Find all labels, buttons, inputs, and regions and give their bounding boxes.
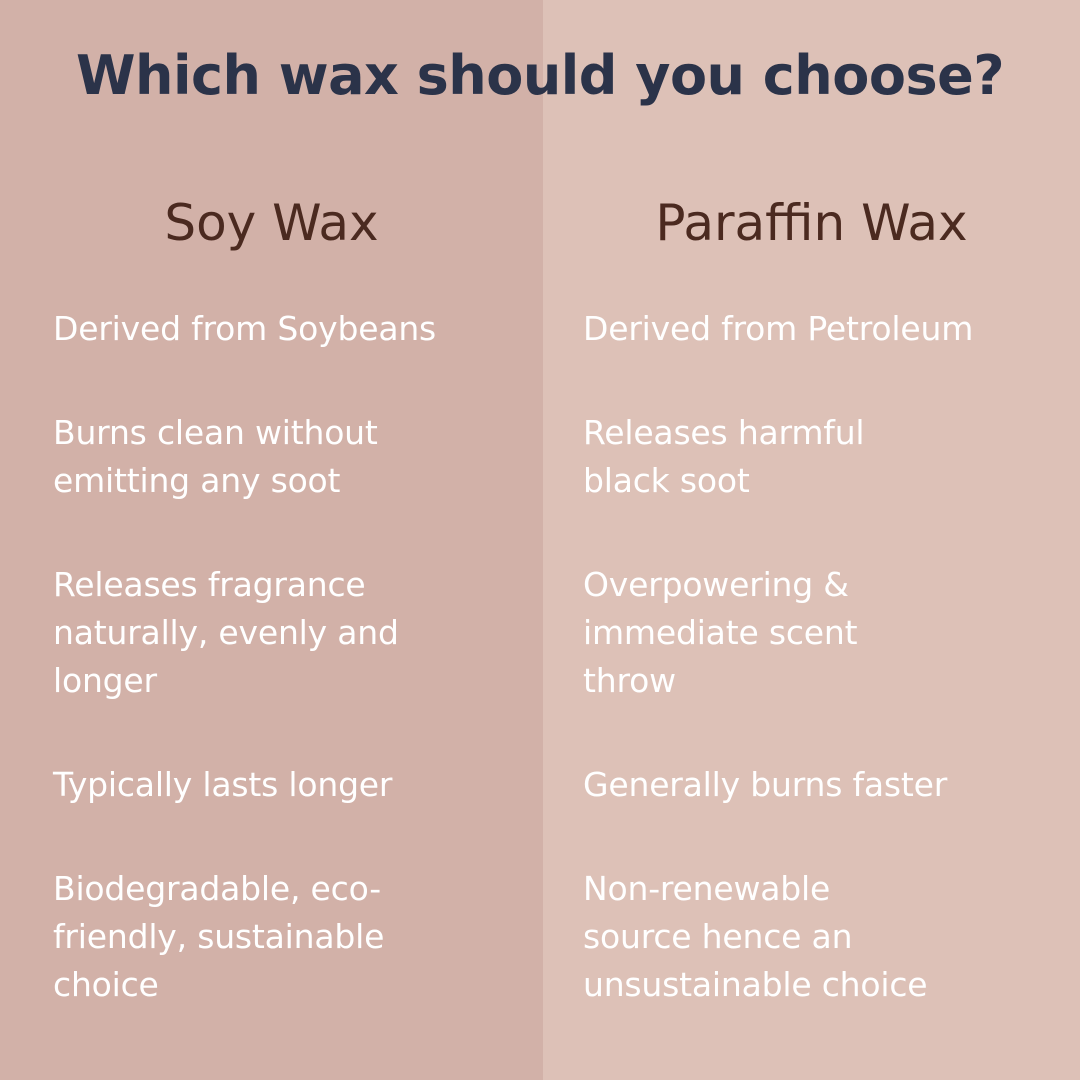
list-item: Burns clean without emitting any soot bbox=[53, 409, 523, 505]
column-items-soy-wax: Derived from Soybeans Burns clean withou… bbox=[53, 305, 523, 1009]
comparison-columns: Soy Wax Derived from Soybeans Burns clea… bbox=[0, 0, 1080, 1080]
list-item: Overpowering & immediate scent throw bbox=[583, 561, 1063, 705]
list-item: Derived from Petroleum bbox=[583, 305, 1063, 353]
column-soy-wax: Soy Wax Derived from Soybeans Burns clea… bbox=[0, 0, 543, 1080]
column-header-soy-wax: Soy Wax bbox=[0, 196, 543, 251]
column-items-paraffin-wax: Derived from Petroleum Releases harmful … bbox=[583, 305, 1063, 1009]
list-item: Typically lasts longer bbox=[53, 761, 523, 809]
column-paraffin-wax: Paraffin Wax Derived from Petroleum Rele… bbox=[543, 0, 1080, 1080]
list-item: Generally burns faster bbox=[583, 761, 1063, 809]
list-item: Non-renewable source hence an unsustaina… bbox=[583, 865, 1063, 1009]
list-item: Releases fragrance naturally, evenly and… bbox=[53, 561, 523, 705]
list-item: Biodegradable, eco- friendly, sustainabl… bbox=[53, 865, 523, 1009]
list-item: Releases harmful black soot bbox=[583, 409, 1063, 505]
wax-comparison-infographic: Which wax should you choose? Soy Wax Der… bbox=[0, 0, 1080, 1080]
column-header-paraffin-wax: Paraffin Wax bbox=[543, 196, 1080, 251]
list-item: Derived from Soybeans bbox=[53, 305, 523, 353]
